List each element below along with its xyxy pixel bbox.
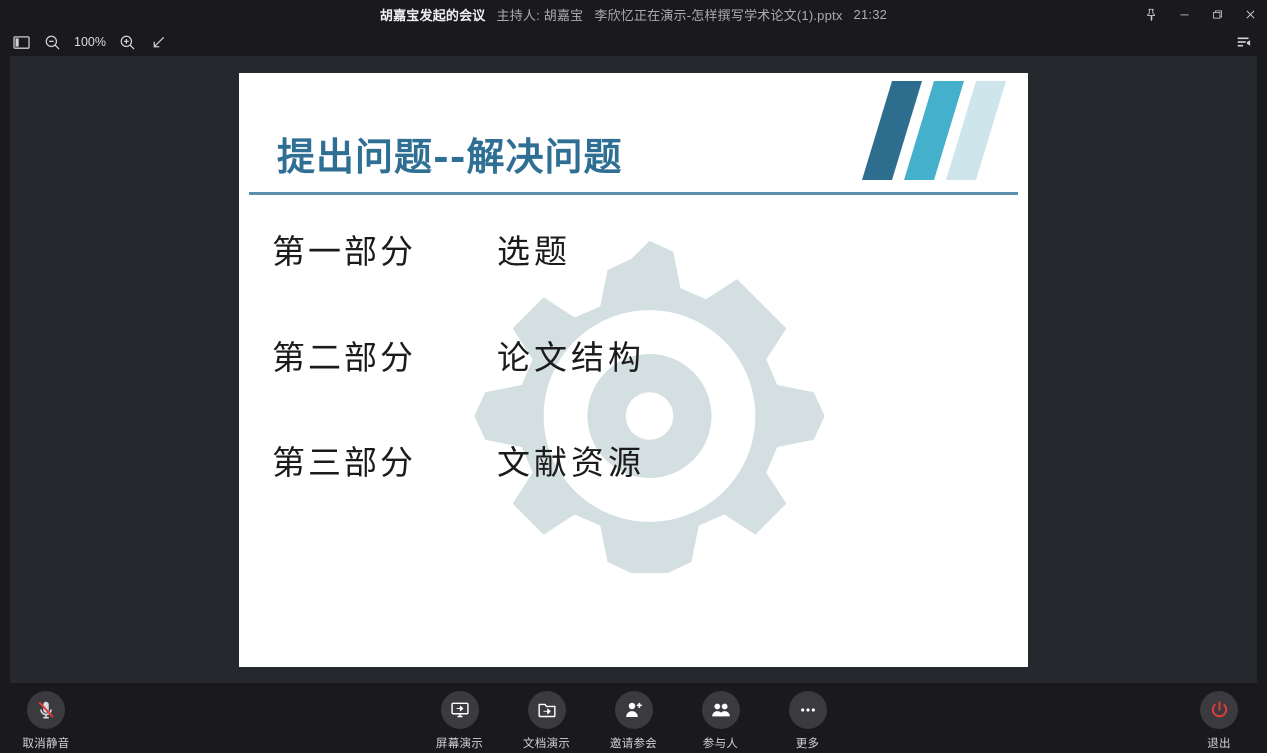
toolbar: 100% [0,28,1267,56]
zoom-out-button[interactable] [39,29,66,55]
document-share-icon [537,700,557,720]
slide-canvas[interactable]: 提出问题--解决问题 第一部分选题 第 [239,73,1028,667]
participants-button[interactable]: 参与人 [685,691,757,751]
minimize-icon [1178,8,1191,21]
toolbar-left-group: 100% [8,28,172,56]
presentation-stage[interactable]: 提出问题--解决问题 第一部分选题 第 [10,56,1257,683]
zoom-in-button[interactable] [114,29,141,55]
screen-share-button[interactable]: 屏幕演示 [424,691,496,751]
restore-icon [1211,8,1224,21]
pin-icon [1145,8,1158,21]
slide-row-part: 第三部分 [272,436,497,484]
meeting-name: 胡嘉宝发起的会议 [380,5,486,24]
participants-label: 参与人 [703,735,738,751]
fit-screen-button[interactable] [145,29,172,55]
exit-label: 退出 [1207,735,1231,751]
more-label: 更多 [796,735,820,751]
participants-circle [702,691,740,729]
more-dots-icon [798,700,818,720]
document-share-circle [528,691,566,729]
participants-icon [711,700,731,720]
slide-row-part: 第一部分 [272,225,497,273]
slide-row: 第一部分选题 [272,225,992,273]
more-circle [789,691,827,729]
zoom-in-icon [119,34,136,51]
mic-muted-icon [35,699,57,721]
sidebar-panel-toggle[interactable] [8,29,35,55]
document-share-button[interactable]: 文档演示 [511,691,583,751]
invite-label: 邀请参会 [610,735,657,751]
collapse-arrow-icon [150,34,167,51]
subtitle-list-icon [1235,34,1253,50]
mute-button-label: 取消静音 [22,735,69,751]
exit-button[interactable]: 退出 [1183,691,1255,751]
power-icon [1209,700,1230,721]
mute-button-circle [27,691,65,729]
exit-circle [1200,691,1238,729]
slide-row-topic: 论文结构 [497,331,645,379]
presenting-label: 李欣忆正在演示-怎样撰写学术论文(1).pptx [594,5,842,24]
slide-row-part: 第二部分 [272,331,497,379]
mute-button[interactable]: 取消静音 [10,691,82,751]
minimize-button[interactable] [1168,0,1201,28]
subtitle-button[interactable] [1230,29,1257,55]
meeting-window: 胡嘉宝发起的会议 主持人: 胡嘉宝 李欣忆正在演示-怎样撰写学术论文(1).pp… [0,0,1267,753]
pin-button[interactable] [1135,0,1168,28]
slide-row-topic: 文献资源 [497,436,645,484]
invite-person-icon [624,700,644,720]
close-icon [1244,8,1257,21]
bottom-toolbar: 取消静音 屏幕演示 [0,683,1267,753]
screen-share-label: 屏幕演示 [436,735,483,751]
sidebar-panel-icon [13,35,30,50]
slide-row: 第二部分论文结构 [272,331,992,379]
invite-button[interactable]: 邀请参会 [598,691,670,751]
window-controls [1135,0,1267,28]
bottom-actions-group: 屏幕演示 文档演示 [424,691,844,751]
restore-button[interactable] [1201,0,1234,28]
document-share-label: 文档演示 [523,735,570,751]
host-label: 主持人: 胡嘉宝 [497,5,584,24]
toolbar-right-group [1230,28,1257,56]
screen-share-icon [450,700,470,720]
title-bar-text: 胡嘉宝发起的会议 主持人: 胡嘉宝 李欣忆正在演示-怎样撰写学术论文(1).pp… [0,0,1267,28]
title-bar: 胡嘉宝发起的会议 主持人: 胡嘉宝 李欣忆正在演示-怎样撰写学术论文(1).pp… [0,0,1267,28]
close-button[interactable] [1234,0,1267,28]
invite-circle [615,691,653,729]
more-button[interactable]: 更多 [772,691,844,751]
zoom-out-icon [44,34,61,51]
zoom-level[interactable]: 100% [70,35,110,49]
meeting-time: 21:32 [854,7,888,22]
slide-row: 第三部分文献资源 [272,436,992,484]
screen-share-circle [441,691,479,729]
slide-body: 第一部分选题 第二部分论文结构 第三部分文献资源 [239,73,1028,667]
slide-row-topic: 选题 [497,225,571,273]
